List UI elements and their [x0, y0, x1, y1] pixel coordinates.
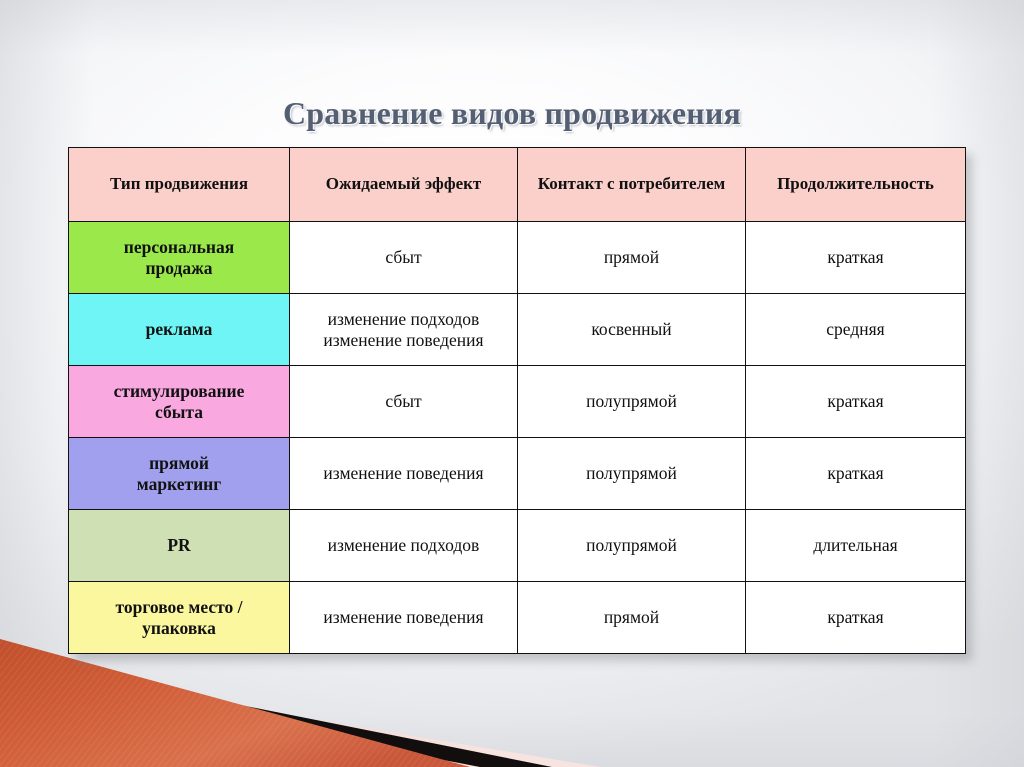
cell-contact: косвенный: [518, 294, 746, 366]
page-title: Сравнение видов продвижения: [0, 95, 1024, 132]
column-header-effect: Ожидаемый эффект: [290, 148, 518, 222]
table-body: персональная продажа сбыт прямой краткая…: [69, 222, 966, 654]
cell-effect-line1: изменение подходов: [296, 309, 511, 330]
cell-contact: прямой: [518, 222, 746, 294]
cell-type: торговое место / упаковка: [69, 582, 290, 654]
cell-effect: изменение поведения: [290, 582, 518, 654]
cell-type-line1: реклама: [75, 319, 283, 340]
cell-duration: средняя: [746, 294, 966, 366]
cell-effect: сбыт: [290, 222, 518, 294]
cell-duration: краткая: [746, 582, 966, 654]
table-row: реклама изменение подходов изменение пов…: [69, 294, 966, 366]
cell-type-line2: сбыта: [75, 402, 283, 423]
cell-type-line1: прямой: [75, 453, 283, 474]
cell-duration: краткая: [746, 438, 966, 510]
cell-type-line2: продажа: [75, 258, 283, 279]
slide-canvas: Сравнение видов продвижения Тип продвиже…: [0, 0, 1024, 767]
cell-effect-line1: изменение поведения: [296, 607, 511, 628]
cell-effect: сбыт: [290, 366, 518, 438]
table-header-row: Тип продвижения Ожидаемый эффект Контакт…: [69, 148, 966, 222]
cell-effect-line1: сбыт: [296, 247, 511, 268]
cell-effect: изменение подходов изменение поведения: [290, 294, 518, 366]
column-header-duration: Продолжительность: [746, 148, 966, 222]
cell-contact: полупрямой: [518, 438, 746, 510]
cell-effect-line2: изменение поведения: [296, 330, 511, 351]
cell-type-line1: стимулирование: [75, 381, 283, 402]
table-row: прямой маркетинг изменение поведения пол…: [69, 438, 966, 510]
cell-type-line2: маркетинг: [75, 474, 283, 495]
black-diagonal-stripe: [0, 657, 552, 767]
cell-duration: краткая: [746, 222, 966, 294]
cell-type-line2: упаковка: [75, 618, 283, 639]
cell-effect-line1: изменение подходов: [296, 535, 511, 556]
cell-effect-line1: сбыт: [296, 391, 511, 412]
orange-diagonal-wedge: [0, 639, 470, 767]
cell-type: прямой маркетинг: [69, 438, 290, 510]
column-header-type: Тип продвижения: [69, 148, 290, 222]
table-row: торговое место / упаковка изменение пове…: [69, 582, 966, 654]
cell-effect-line1: изменение поведения: [296, 463, 511, 484]
cell-effect: изменение подходов: [290, 510, 518, 582]
cell-contact: полупрямой: [518, 366, 746, 438]
cell-contact: прямой: [518, 582, 746, 654]
cell-type-line1: торговое место /: [75, 597, 283, 618]
cell-type-line1: персональная: [75, 237, 283, 258]
cell-duration: краткая: [746, 366, 966, 438]
orange-wedge-texture: [0, 639, 470, 767]
cell-effect: изменение поведения: [290, 438, 518, 510]
comparison-table: Тип продвижения Ожидаемый эффект Контакт…: [68, 147, 966, 654]
table-row: персональная продажа сбыт прямой краткая: [69, 222, 966, 294]
cell-duration: длительная: [746, 510, 966, 582]
pink-diagonal-band: [0, 667, 600, 767]
cell-type: PR: [69, 510, 290, 582]
table-row: PR изменение подходов полупрямой длитель…: [69, 510, 966, 582]
cell-type: стимулирование сбыта: [69, 366, 290, 438]
cell-type-line1: PR: [75, 535, 283, 556]
column-header-contact: Контакт с потребителем: [518, 148, 746, 222]
cell-type: реклама: [69, 294, 290, 366]
cell-contact: полупрямой: [518, 510, 746, 582]
comparison-table-container: Тип продвижения Ожидаемый эффект Контакт…: [68, 147, 965, 654]
table-row: стимулирование сбыта сбыт полупрямой кра…: [69, 366, 966, 438]
cell-type: персональная продажа: [69, 222, 290, 294]
